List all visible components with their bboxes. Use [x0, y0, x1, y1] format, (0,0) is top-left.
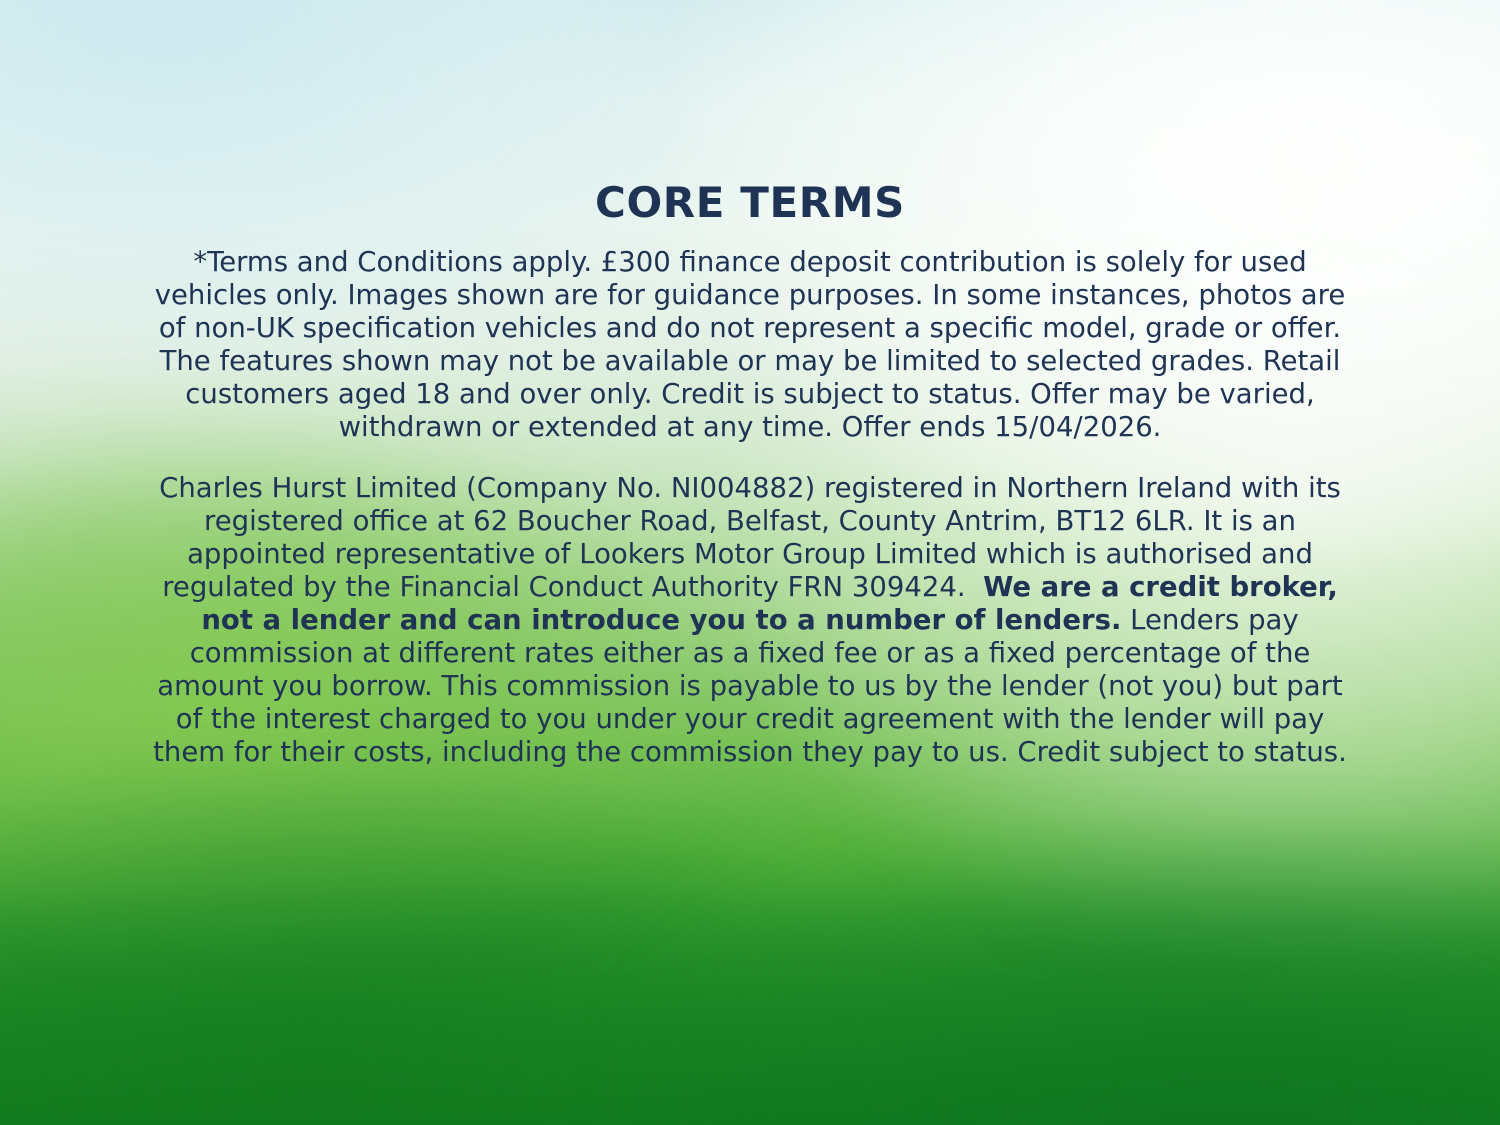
terms-paragraph-offer: *Terms and Conditions apply. £300 financ…	[140, 246, 1360, 444]
slide-content: CORE TERMS *Terms and Conditions apply. …	[0, 0, 1500, 1125]
page-title: CORE TERMS	[0, 180, 1500, 226]
slide-canvas: CORE TERMS *Terms and Conditions apply. …	[0, 0, 1500, 1125]
terms-body: *Terms and Conditions apply. £300 financ…	[140, 246, 1360, 769]
terms-paragraph-broker: Charles Hurst Limited (Company No. NI004…	[140, 472, 1360, 769]
